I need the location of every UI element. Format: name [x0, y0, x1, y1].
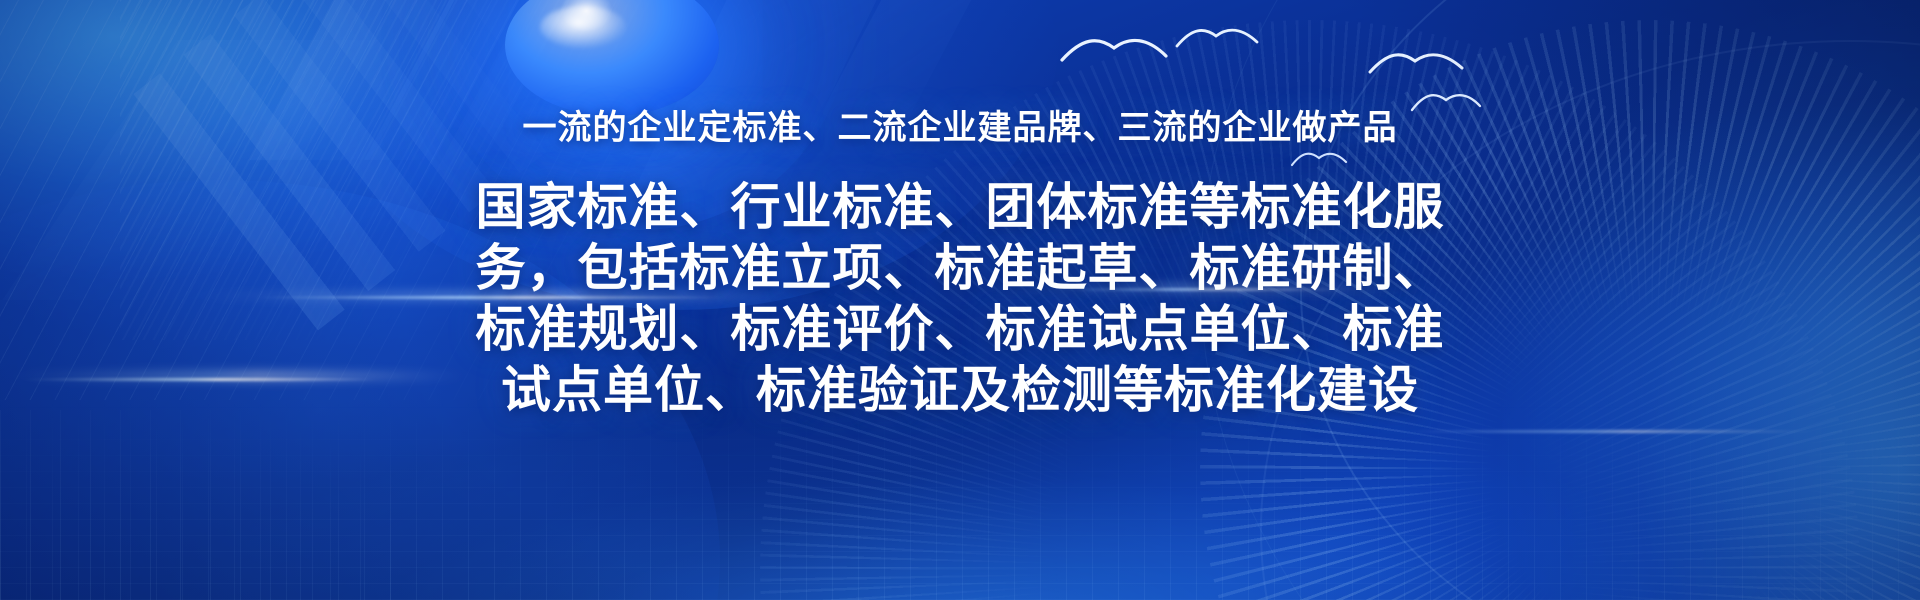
standardization-service-banner: 一流的企业定标准、二流企业建品牌、三流的企业做产品 国家标准、行业标准、团体标准… — [0, 0, 1920, 600]
banner-body-line-3: 标准规划、标准评价、标准试点单位、标准 — [440, 299, 1480, 360]
banner-headline: 一流的企业定标准、二流企业建品牌、三流的企业做产品 — [523, 108, 1398, 149]
banner-body-line-2: 务，包括标准立项、标准起草、标准研制、 — [440, 238, 1480, 299]
banner-body: 国家标准、行业标准、团体标准等标准化服 务，包括标准立项、标准起草、标准研制、 … — [440, 177, 1480, 421]
banner-body-line-4: 试点单位、标准验证及检测等标准化建设 — [440, 360, 1480, 421]
banner-content: 一流的企业定标准、二流企业建品牌、三流的企业做产品 国家标准、行业标准、团体标准… — [0, 0, 1920, 600]
banner-body-line-1: 国家标准、行业标准、团体标准等标准化服 — [440, 177, 1480, 238]
